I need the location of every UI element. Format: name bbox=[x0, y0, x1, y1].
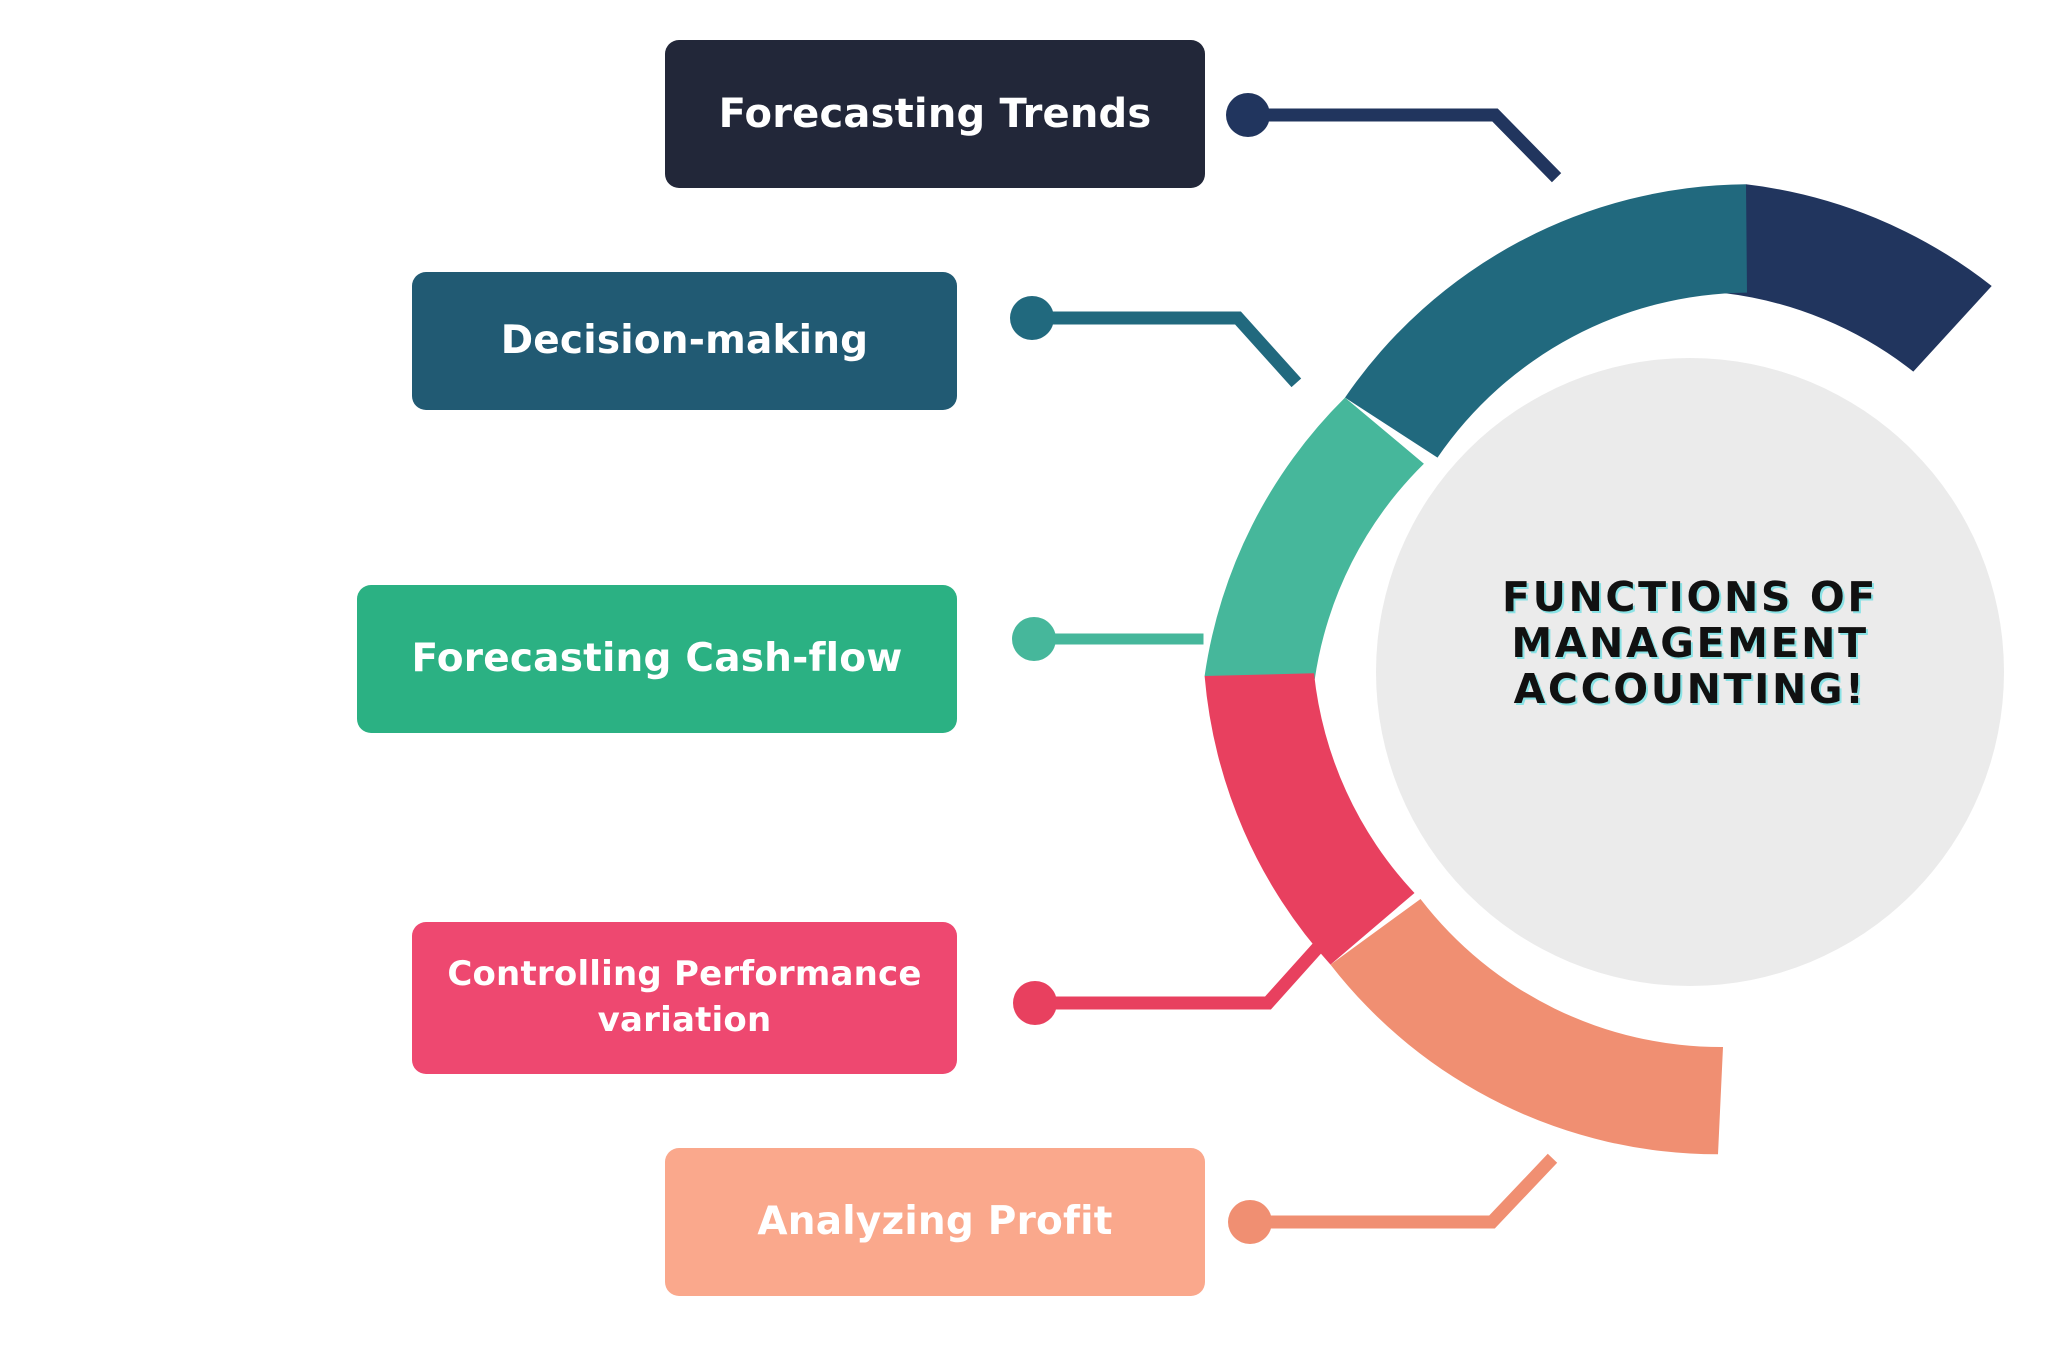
label-text-line-2: variation bbox=[598, 1000, 772, 1040]
connector-forecasting-trends bbox=[1226, 93, 1552, 173]
center-title-line-2: MANAGEMENT bbox=[1455, 621, 1925, 667]
center-title-line-3: ACCOUNTING! bbox=[1455, 667, 1925, 713]
connector-line-analyzing-profit bbox=[1250, 1163, 1548, 1222]
ring-segment-forecasting-trends[interactable] bbox=[1723, 184, 1991, 371]
connector-line-decision-making bbox=[1032, 318, 1292, 378]
connector-analyzing-profit bbox=[1228, 1163, 1548, 1244]
connector-controlling-performance-variation bbox=[1013, 945, 1320, 1025]
label-box-controlling-performance-variation[interactable]: Controlling Performance variation bbox=[412, 922, 957, 1074]
connector-line-controlling-performance-variation bbox=[1035, 945, 1320, 1003]
connector-forecasting-cash-flow bbox=[1012, 617, 1198, 661]
label-text-line-1: Controlling Performance bbox=[447, 954, 921, 994]
center-title-line-1: FUNCTIONS OF bbox=[1455, 575, 1925, 621]
label-text-controlling-performance-variation: Controlling Performance variation bbox=[430, 952, 939, 1044]
connector-line-forecasting-trends bbox=[1248, 115, 1552, 173]
label-box-analyzing-profit[interactable]: Analyzing Profit bbox=[665, 1148, 1205, 1296]
label-box-forecasting-cash-flow[interactable]: Forecasting Cash-flow bbox=[357, 585, 957, 733]
label-text-forecasting-trends: Forecasting Trends bbox=[683, 87, 1187, 141]
label-box-forecasting-trends[interactable]: Forecasting Trends bbox=[665, 40, 1205, 188]
label-text-analyzing-profit: Analyzing Profit bbox=[683, 1196, 1187, 1249]
label-text-forecasting-cash-flow: Forecasting Cash-flow bbox=[375, 633, 939, 686]
label-box-decision-making[interactable]: Decision-making bbox=[412, 272, 957, 410]
connector-decision-making bbox=[1010, 296, 1292, 378]
center-title: FUNCTIONS OF MANAGEMENT ACCOUNTING! bbox=[1455, 575, 1925, 713]
label-text-decision-making: Decision-making bbox=[430, 315, 939, 368]
